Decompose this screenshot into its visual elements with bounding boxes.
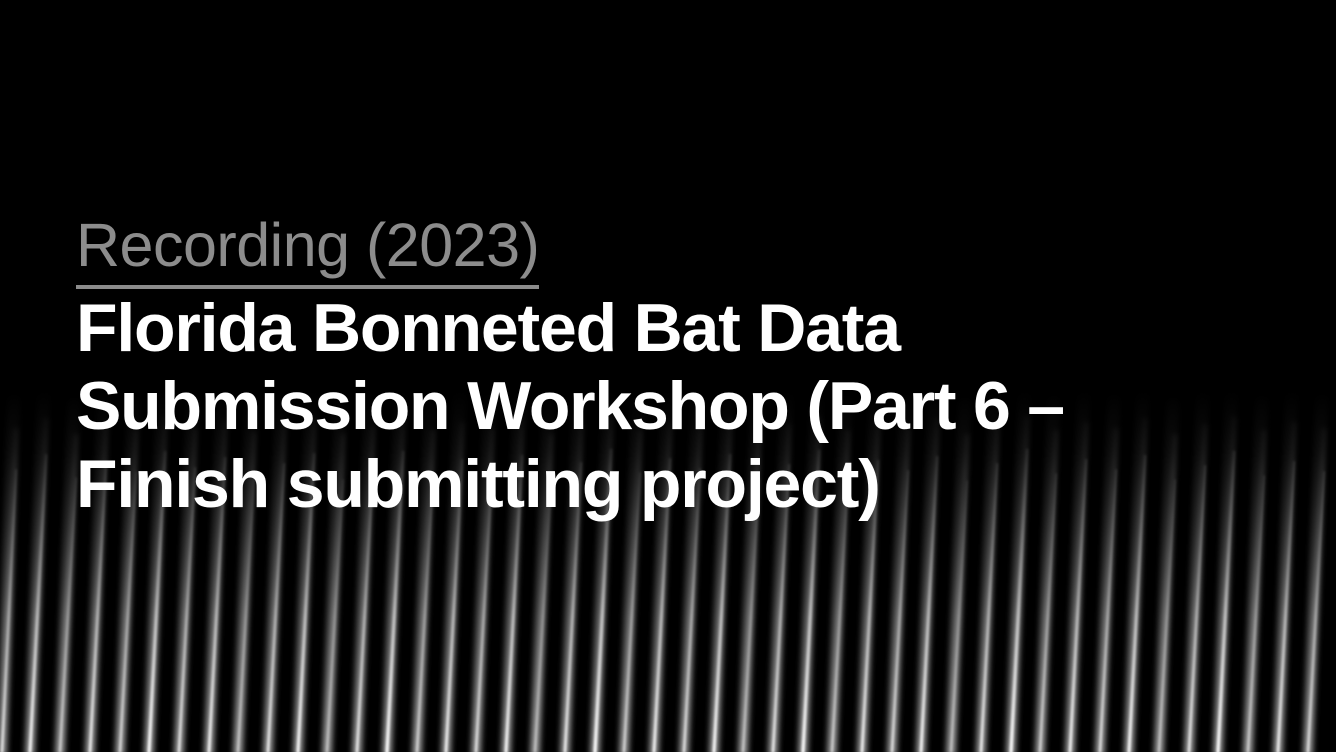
title-slide: Recording (2023) Florida Bonneted Bat Da… bbox=[0, 0, 1336, 752]
slide-text-block: Recording (2023) Florida Bonneted Bat Da… bbox=[76, 206, 1256, 523]
recording-year-label: Recording (2023) bbox=[76, 206, 539, 289]
page-title: Florida Bonneted Bat Data Submission Wor… bbox=[76, 289, 1256, 523]
